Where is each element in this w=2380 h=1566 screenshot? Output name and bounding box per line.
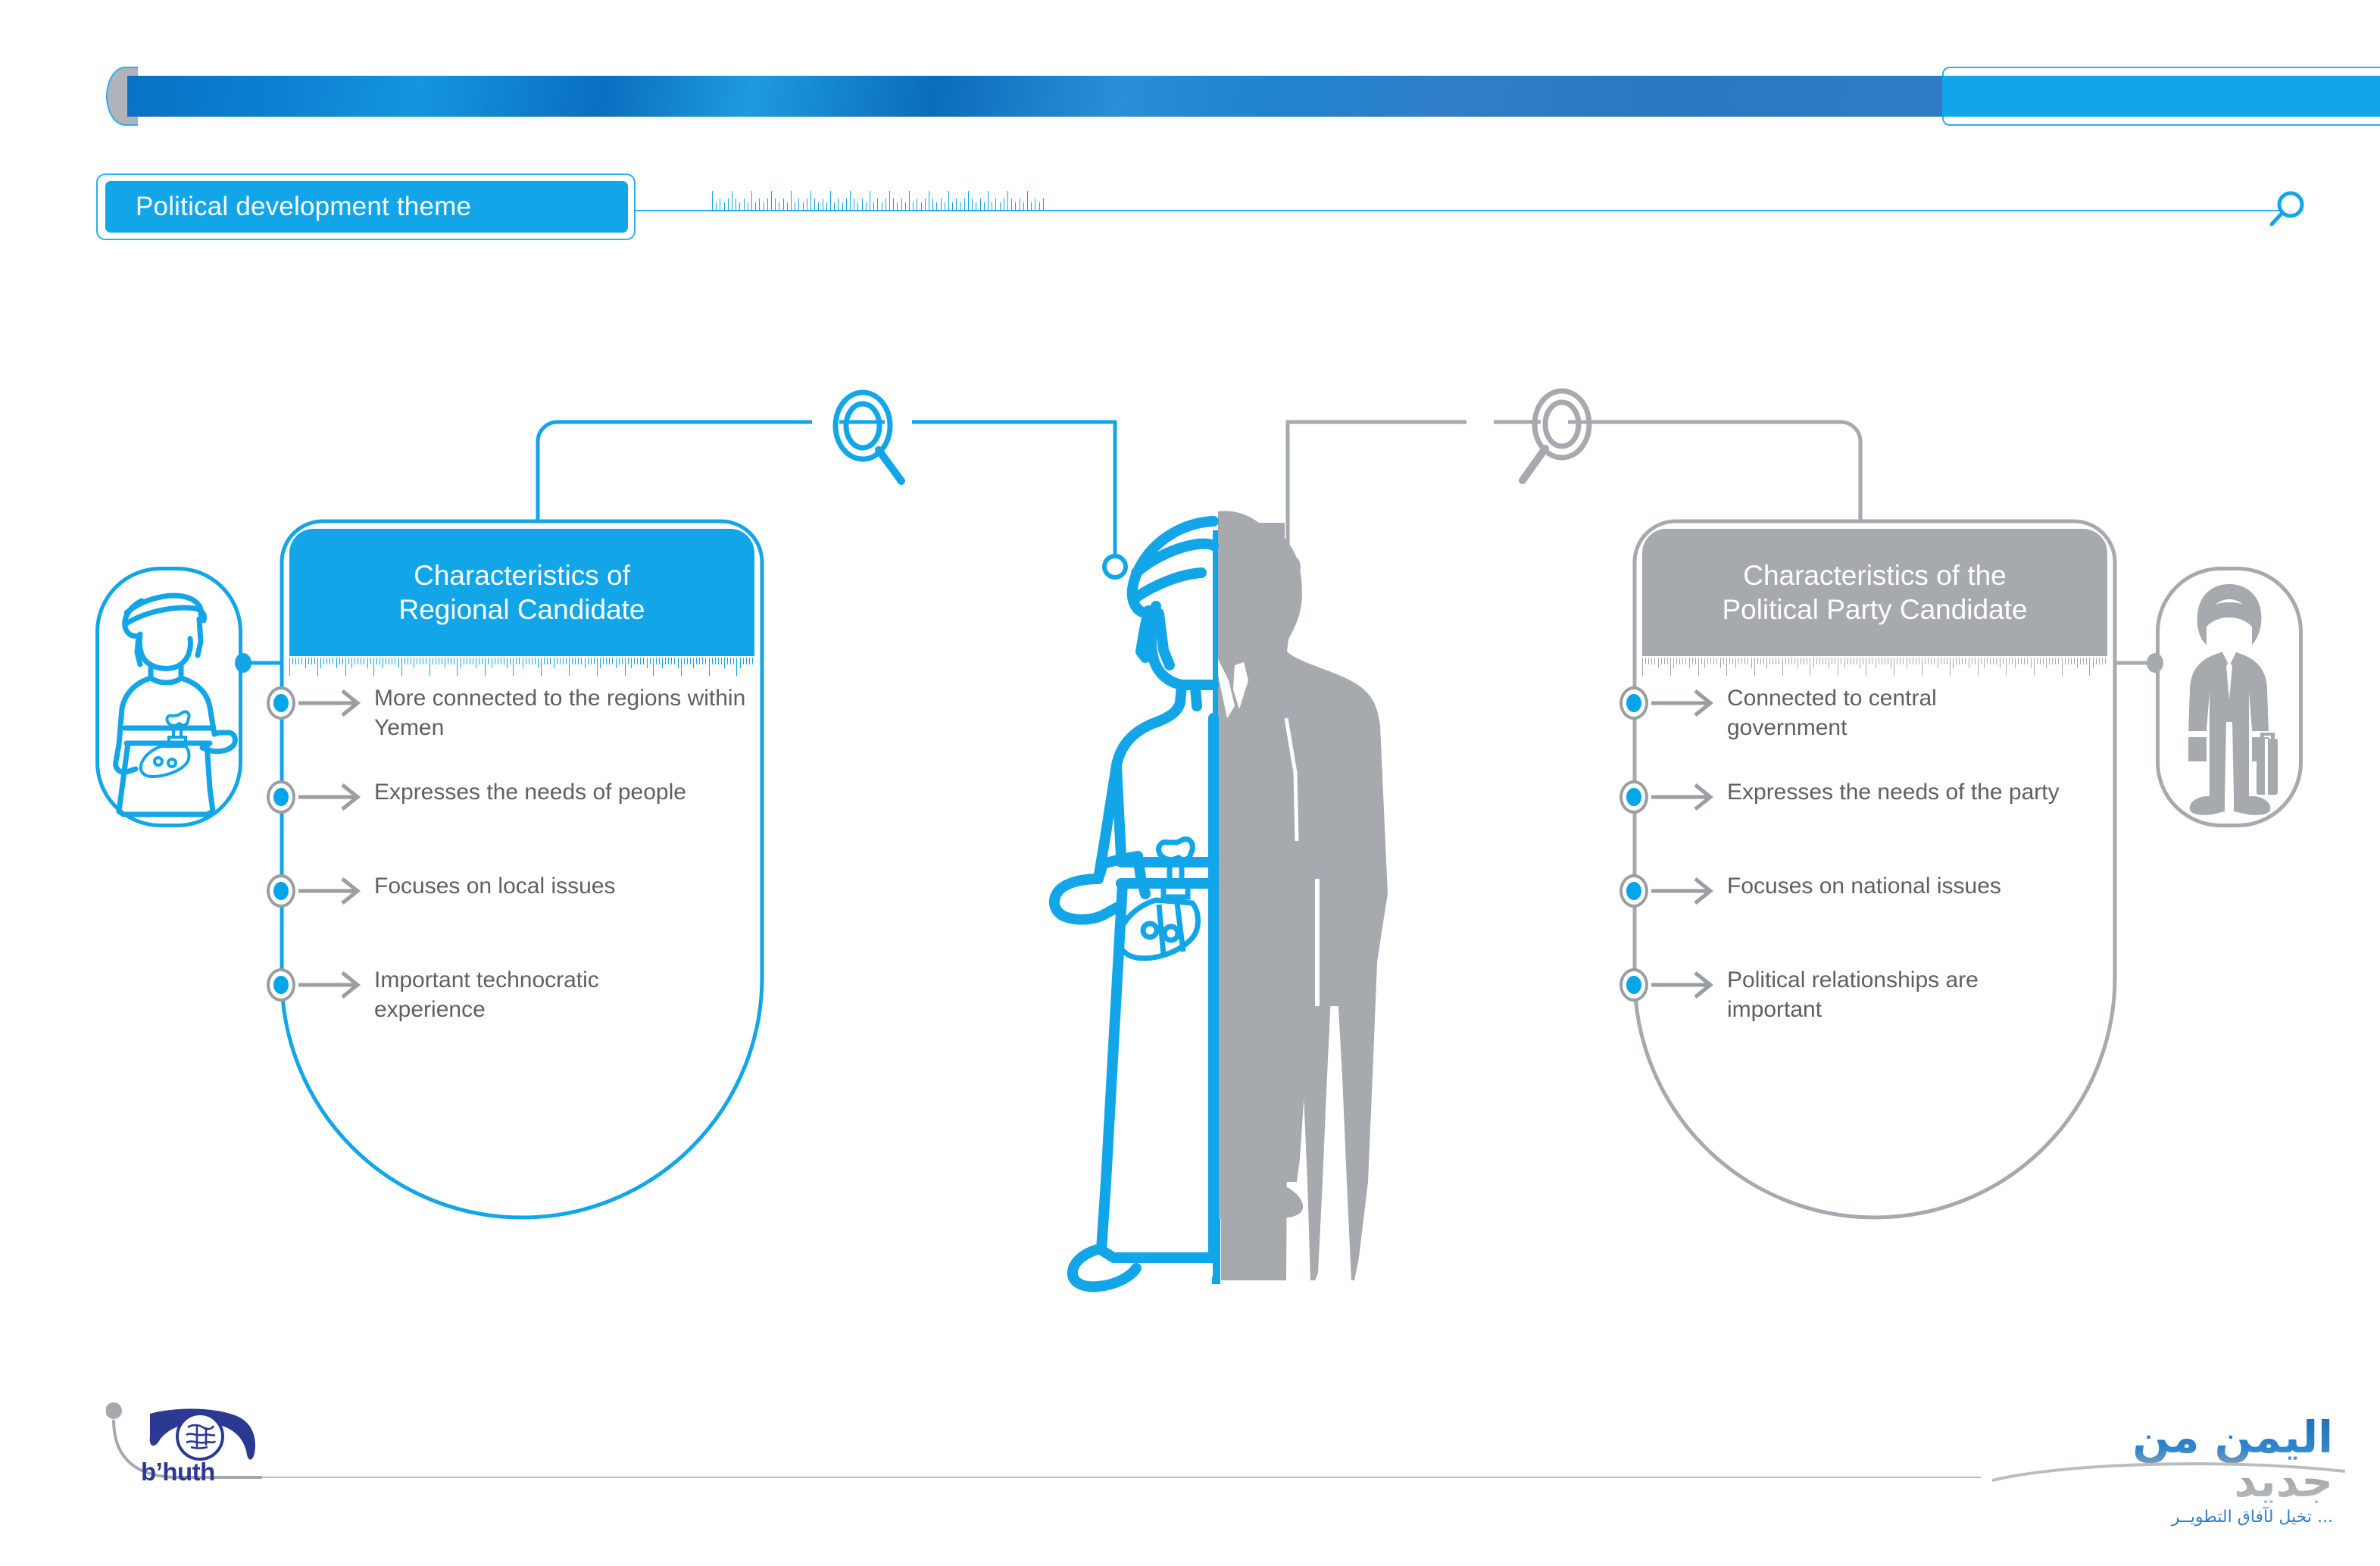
bullet-dot [1619, 874, 1648, 908]
bullet-dot [1619, 968, 1648, 1002]
list-item[interactable]: Important technocratic experience [267, 968, 707, 1024]
theme-title-pill: Political development theme [105, 181, 628, 233]
bullet-dot [267, 686, 295, 720]
arrow-right-icon [1651, 686, 1721, 720]
list-item[interactable]: Expresses the needs of the party [1619, 780, 2083, 814]
list-item-label: Important technocratic experience [374, 965, 707, 1024]
arrow-right-icon [298, 780, 368, 814]
magnifier-icon[interactable] [2265, 188, 2310, 237]
bullet-dot [267, 780, 295, 814]
left-card-title-line1: Characteristics of [414, 558, 630, 592]
list-item[interactable]: Expresses the needs of people [267, 780, 780, 814]
list-item[interactable]: Connected to central government [1619, 686, 2030, 742]
list-item[interactable]: Focuses on national issues [1619, 874, 2083, 908]
left-card-ruler [289, 658, 754, 677]
bullet-dot [1619, 780, 1648, 814]
right-card-ruler [1642, 658, 2107, 677]
list-item-label: Connected to central government [1727, 683, 2030, 742]
list-item-label: Expresses the needs of people [374, 777, 780, 807]
center-illustration [1007, 500, 1432, 1303]
right-connector-bracket [1568, 422, 1860, 523]
arrow-right-icon [298, 874, 368, 908]
banner-gradient-strip [127, 76, 1960, 117]
footer-divider [261, 1477, 1981, 1478]
header-banner [106, 67, 2280, 126]
list-item-label: Focuses on national issues [1727, 871, 2083, 901]
list-item-label: More connected to the regions within Yem… [374, 683, 780, 742]
businessman-with-briefcase-icon [2160, 570, 2299, 824]
right-card-title-line2: Political Party Candidate [1722, 592, 2027, 627]
right-icon-capsule [2156, 567, 2303, 827]
right-card-title-line1: Characteristics of the [1743, 558, 2007, 592]
traditional-yemeni-man-icon [99, 570, 239, 824]
left-card-header: Characteristics of Regional Candidate [289, 529, 754, 656]
left-card-title-line2: Regional Candidate [398, 592, 645, 627]
bullet-dot [267, 968, 295, 1002]
list-item-label: Political relationships are important [1727, 965, 2068, 1024]
right-card-header: Characteristics of the Political Party C… [1642, 529, 2107, 656]
bhuth-wordmark: b’huth [141, 1458, 215, 1486]
yemen-logo-swoosh [1992, 1458, 2348, 1488]
left-capsule-nub [235, 653, 251, 673]
bullet-dot [1619, 686, 1648, 720]
right-capsule-nub [2147, 653, 2163, 673]
list-item-label: Focuses on local issues [374, 871, 780, 901]
yemen-anew-tagline: ... تخيل لآفاق التطويــر [2038, 1508, 2333, 1527]
left-connector-bracket [538, 422, 812, 523]
magnifier-icon[interactable] [1523, 391, 1589, 480]
list-item-label: Expresses the needs of the party [1727, 777, 2083, 807]
ruler-ticks [712, 189, 1045, 211]
arrow-right-icon [298, 968, 368, 1002]
list-item[interactable]: More connected to the regions within Yem… [267, 686, 780, 742]
magnifier-icon[interactable] [835, 392, 901, 481]
list-item[interactable]: Political relationships are important [1619, 968, 2068, 1024]
suited-candidate-half [1218, 511, 1341, 1218]
list-item[interactable]: Focuses on local issues [267, 874, 780, 908]
arrow-right-icon [1651, 968, 1721, 1002]
arrow-right-icon [298, 686, 368, 720]
left-icon-capsule [95, 567, 242, 827]
banner-cyan-fill [1942, 76, 2380, 117]
page-title: Political development theme [105, 192, 471, 222]
bullet-dot [267, 874, 295, 908]
arrow-right-icon [1651, 874, 1721, 908]
arrow-right-icon [1651, 780, 1721, 814]
